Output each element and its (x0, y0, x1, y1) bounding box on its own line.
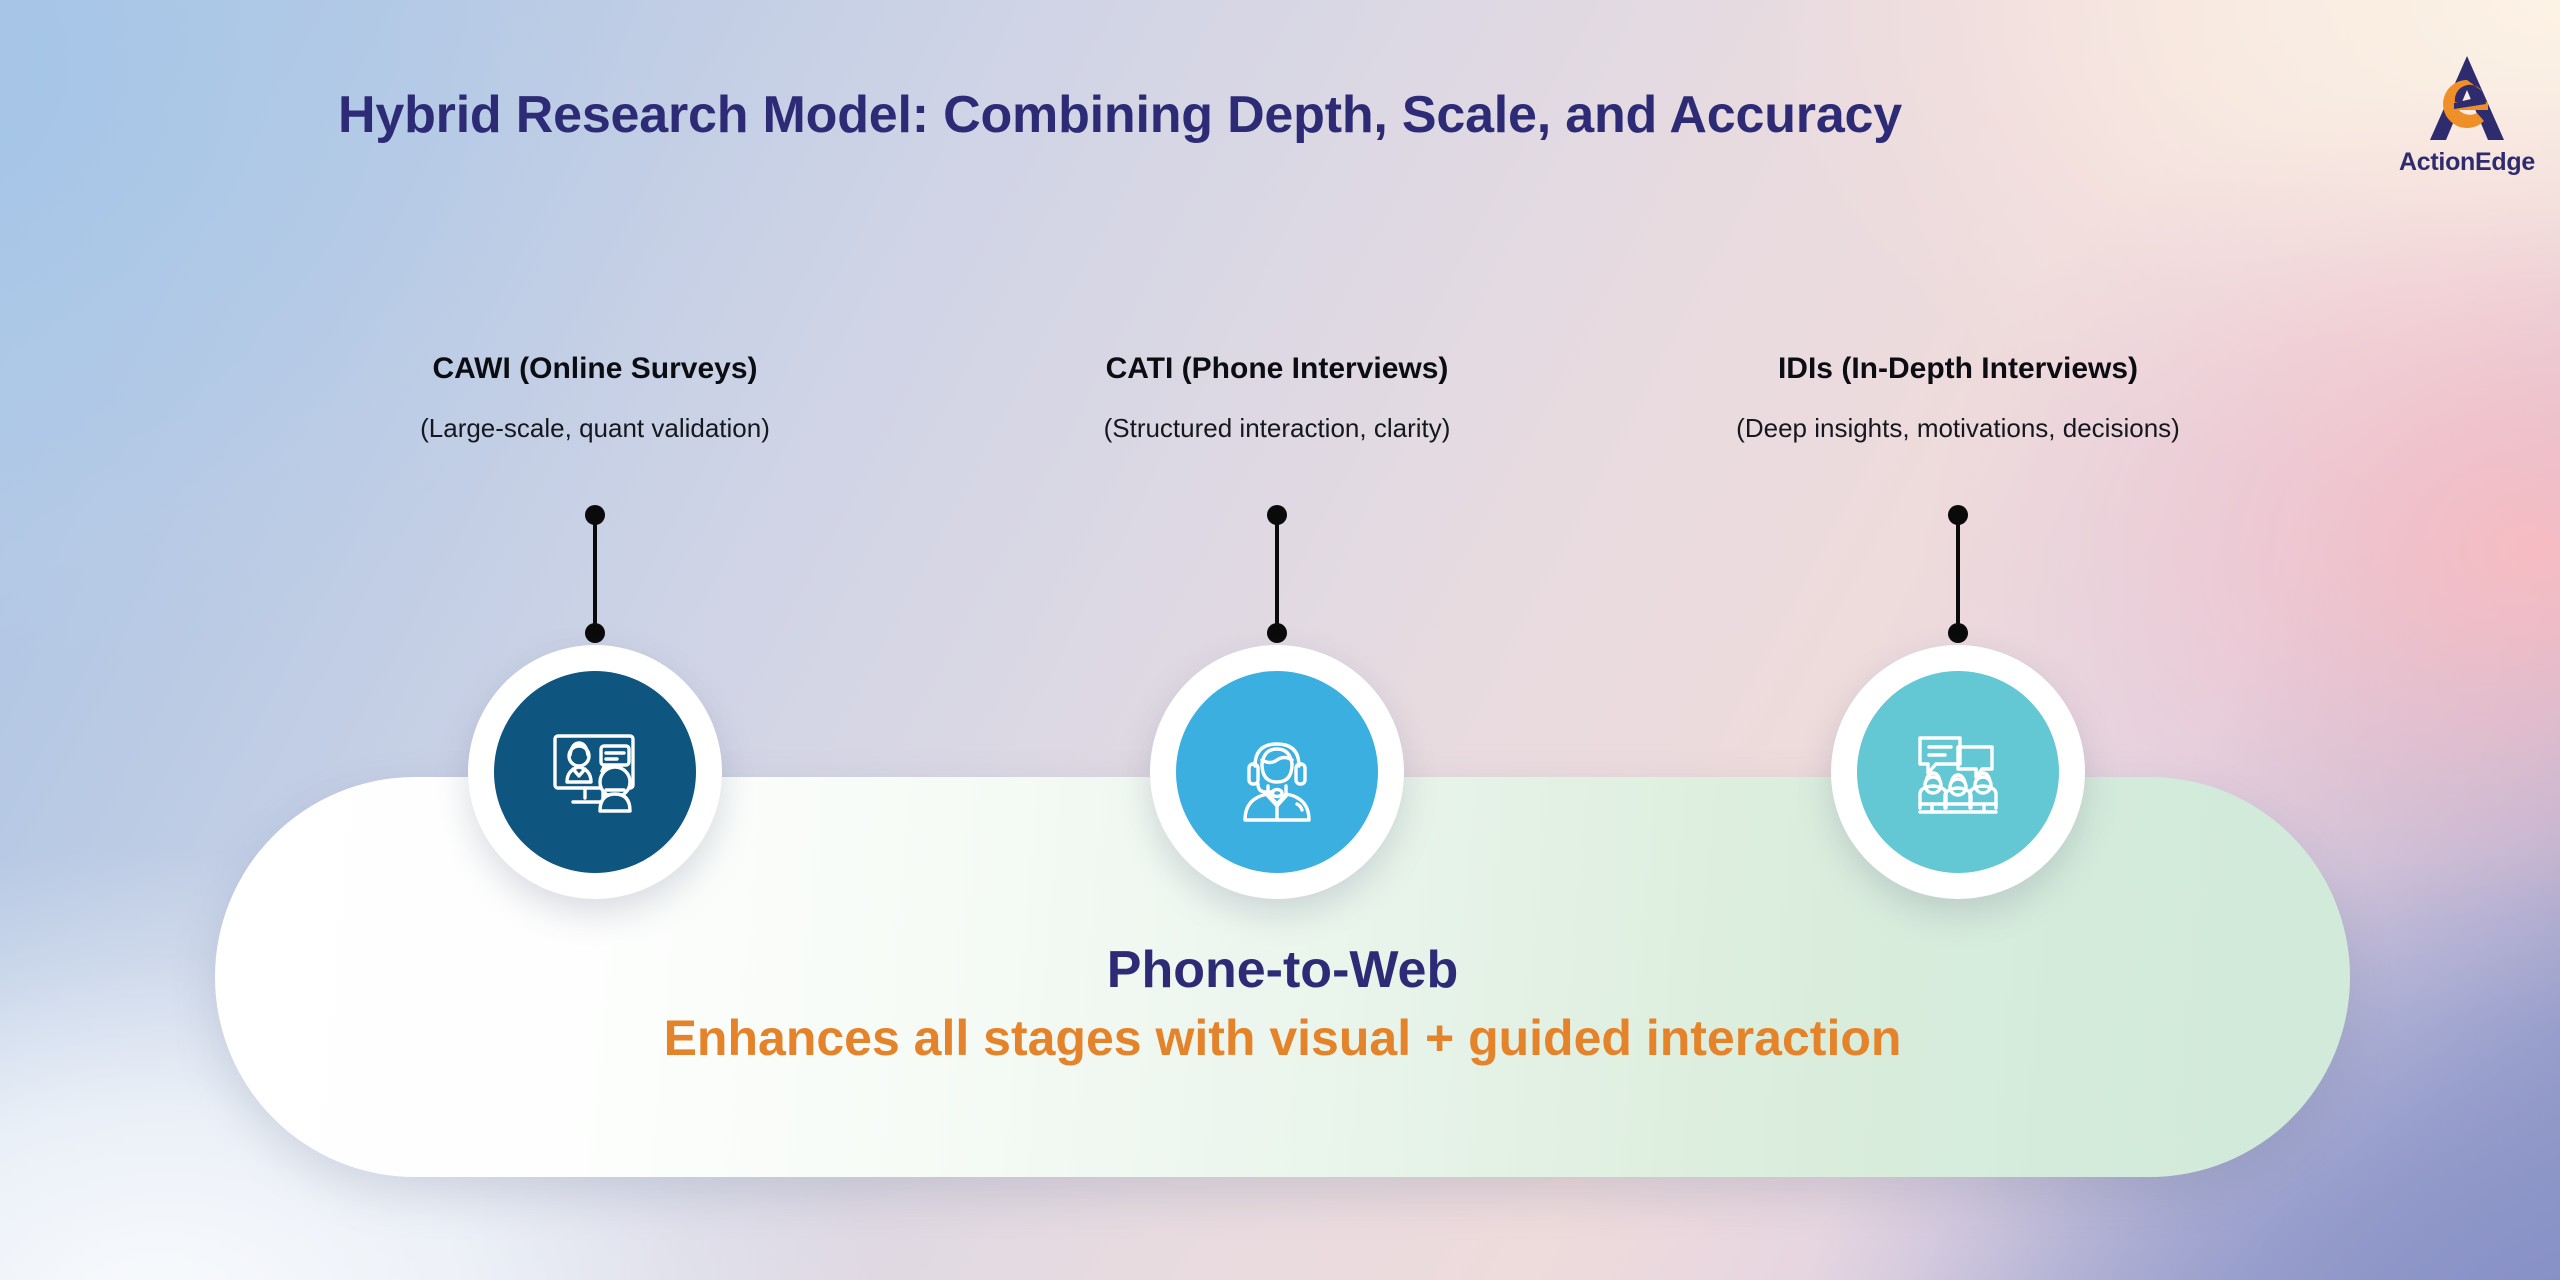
connector-cati (1267, 505, 1287, 645)
connector-cawi (585, 505, 605, 645)
actionedge-a-e-monogram-icon (2392, 48, 2542, 148)
stage-badge-inner-cawi (494, 671, 696, 873)
stage-sublabel-cawi: (Large-scale, quant validation) (215, 413, 975, 444)
connector-bottom-dot-icon (1948, 623, 1968, 643)
stage-label-cati: CATI (Phone Interviews) (897, 352, 1657, 386)
banner-text-group: Phone-to-Web Enhances all stages with vi… (215, 940, 2350, 1068)
stage-badge-cawi[interactable] (468, 645, 722, 899)
stage-badge-inner-cati (1176, 671, 1378, 873)
connector-line-icon (1275, 513, 1279, 635)
banner-title: Phone-to-Web (215, 940, 2350, 1001)
stage-sublabel-cati: (Structured interaction, clarity) (897, 413, 1657, 444)
stage-label-idis: IDIs (In-Depth Interviews) (1578, 352, 2338, 386)
connector-line-icon (593, 513, 597, 635)
infographic-canvas: Hybrid Research Model: Combining Depth, … (0, 0, 2560, 1280)
online-survey-monitor-person-icon (539, 716, 651, 828)
connector-bottom-dot-icon (585, 623, 605, 643)
stage-badge-inner-idis (1857, 671, 2059, 873)
connector-idis (1948, 505, 1968, 645)
stage-badge-cati[interactable] (1150, 645, 1404, 899)
stage-sublabel-idis: (Deep insights, motivations, decisions) (1578, 413, 2338, 444)
stage-badge-idis[interactable] (1831, 645, 2085, 899)
banner-subtitle: Enhances all stages with visual + guided… (215, 1009, 2350, 1068)
group-discussion-speech-bubbles-icon (1902, 716, 2014, 828)
stage-label-cawi: CAWI (Online Surveys) (215, 352, 975, 386)
headset-agent-icon (1221, 716, 1333, 828)
brand-logo-text: ActionEdge (2392, 148, 2542, 177)
connector-line-icon (1956, 513, 1960, 635)
brand-logo: ActionEdge (2392, 48, 2542, 188)
connector-bottom-dot-icon (1267, 623, 1287, 643)
